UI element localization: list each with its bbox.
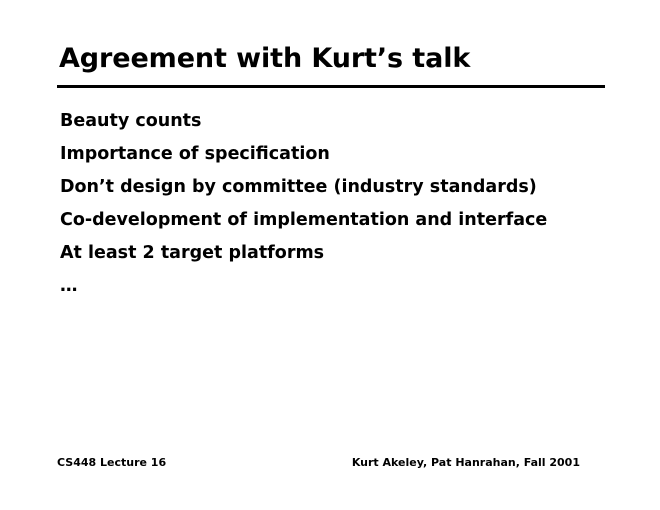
bullet-list: Beauty counts Importance of specificatio… [60, 108, 620, 306]
list-item: Beauty counts [60, 108, 620, 141]
list-item: At least 2 target platforms [60, 240, 620, 273]
list-item-ellipsis: … [60, 273, 620, 306]
page-title: Agreement with Kurt’s talk [59, 42, 619, 76]
list-item: Co-development of implementation and int… [60, 207, 620, 240]
footer-course-label: CS448 Lecture 16 [57, 456, 166, 469]
presentation-slide: Agreement with Kurt’s talk Beauty counts… [0, 0, 660, 510]
list-item: Don’t design by committee (industry stan… [60, 174, 620, 207]
list-item: Importance of specification [60, 141, 620, 174]
footer-authors-label: Kurt Akeley, Pat Hanrahan, Fall 2001 [352, 456, 580, 469]
title-divider [57, 85, 605, 88]
